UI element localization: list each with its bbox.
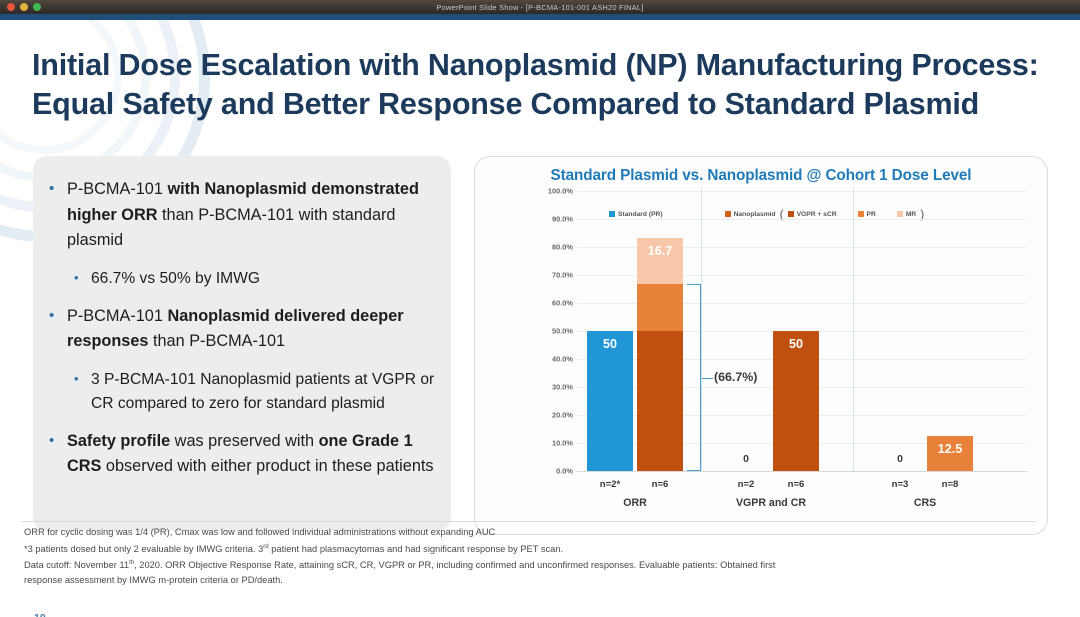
chart-bar-segment[interactable] [637, 284, 683, 331]
slide-title: Initial Dose Escalation with Nanoplasmid… [32, 46, 1052, 124]
x-axis-n-label: n=2 [723, 479, 769, 490]
bullet-item: P-BCMA-101 Nanoplasmid delivered deeper … [43, 304, 443, 355]
y-axis-labels: 100.0%90.0%80.0%70.0%60.0%50.0%40.0%30.0… [527, 191, 573, 536]
window-titlebar: PowerPoint Slide Show - [P-BCMA-101-001 … [0, 0, 1080, 14]
y-axis-tick-label: 100.0% [527, 187, 573, 196]
bullet-text-run: was preserved with [170, 432, 318, 450]
gridline [577, 191, 1027, 192]
chart-bar[interactable]: 50 [773, 331, 819, 471]
x-axis-group-label: ORR [573, 497, 697, 509]
slide-title-line-2: Equal Safety and Better Response Compare… [32, 85, 1052, 124]
bar-value-label: 12.5 [927, 442, 973, 456]
chart-bar[interactable]: 50 [587, 331, 633, 471]
chart-bar[interactable]: 12.5 [927, 436, 973, 471]
bullet-text-run: P-BCMA-101 [67, 180, 167, 198]
chart-panel: Standard Plasmid vs. Nanoplasmid @ Cohor… [474, 156, 1048, 535]
y-axis-tick-label: 10.0% [527, 439, 573, 448]
bullet-text-run: Safety profile [67, 432, 170, 450]
bullet-text-run: 3 P-BCMA-101 Nanoplasmid patients at VGP… [91, 371, 434, 412]
bullet-item: Safety profile was preserved with one Gr… [43, 429, 443, 480]
chart-bar-segment[interactable]: 16.7 [637, 238, 683, 285]
window-title: PowerPoint Slide Show - [P-BCMA-101-001 … [0, 3, 1080, 12]
y-axis-tick-label: 60.0% [527, 299, 573, 308]
chart-bar-segment[interactable]: 12.5 [927, 436, 973, 471]
powerpoint-slideshow-window: PowerPoint Slide Show - [P-BCMA-101-001 … [0, 0, 1080, 617]
key-findings-panel: P-BCMA-101 with Nanoplasmid demonstrated… [33, 156, 451, 531]
chart-plot-wrapper: 100.0%90.0%80.0%70.0%60.0%50.0%40.0%30.0… [475, 191, 1049, 536]
bracket-tick [701, 378, 713, 380]
bullet-text-run: P-BCMA-101 [67, 307, 167, 325]
x-axis-n-label: n=3 [877, 479, 923, 490]
x-axis-n-label: n=2* [587, 479, 633, 490]
bullet-text-run: 66.7% vs 50% by IMWG [91, 270, 260, 287]
x-axis-n-label: n=6 [773, 479, 819, 490]
group-divider [701, 187, 702, 471]
slide-number: 10 [34, 612, 46, 617]
bullet-item: 3 P-BCMA-101 Nanoplasmid patients at VGP… [43, 368, 443, 416]
footnote-line-2: *3 patients dosed but only 2 evaluable b… [24, 540, 1034, 557]
bullet-list: P-BCMA-101 with Nanoplasmid demonstrated… [43, 177, 443, 493]
chart-plot-area: 50n=2*16.7n=6ORR(66.7%)0n=250n=6VGPR and… [577, 191, 1027, 471]
footnote-divider [22, 521, 1036, 522]
gridline [577, 471, 1027, 472]
y-axis-tick-label: 30.0% [527, 383, 573, 392]
x-axis-group-label: CRS [863, 497, 987, 509]
x-axis-n-label: n=6 [637, 479, 683, 490]
bar-value-label-zero: 0 [723, 453, 769, 465]
bullet-item: 66.7% vs 50% by IMWG [43, 267, 443, 291]
x-axis-n-label: n=8 [927, 479, 973, 490]
bracket-annotation [687, 284, 701, 471]
footnote-line-3: Data cutoff: November 11th, 2020. ORR Ob… [24, 556, 1034, 573]
chart-title: Standard Plasmid vs. Nanoplasmid @ Cohor… [475, 167, 1047, 185]
y-axis-tick-label: 90.0% [527, 215, 573, 224]
footnote-line-4: response assessment by IMWG m-protein cr… [24, 573, 1034, 588]
y-axis-tick-label: 50.0% [527, 327, 573, 336]
bullet-item: P-BCMA-101 with Nanoplasmid demonstrated… [43, 177, 443, 254]
bar-value-label: 50 [773, 337, 819, 351]
footnotes: ORR for cyclic dosing was 1/4 (PR), Cmax… [24, 525, 1034, 588]
bullet-text-run: observed with either product in these pa… [101, 457, 433, 475]
slide-canvas: Initial Dose Escalation with Nanoplasmid… [0, 20, 1080, 617]
chart-bar-segment[interactable] [637, 331, 683, 471]
footnote-line-1: ORR for cyclic dosing was 1/4 (PR), Cmax… [24, 525, 1034, 540]
slide-title-line-1: Initial Dose Escalation with Nanoplasmid… [32, 48, 1039, 82]
chart-bar-segment[interactable]: 50 [773, 331, 819, 471]
y-axis-tick-label: 80.0% [527, 243, 573, 252]
bar-value-label-zero: 0 [877, 453, 923, 465]
group-divider [853, 187, 854, 471]
gridline [577, 219, 1027, 220]
bar-value-label: 50 [587, 337, 633, 351]
chart-bar[interactable]: 16.7 [637, 237, 683, 471]
bar-value-label: 16.7 [637, 244, 683, 258]
x-axis-group-label: VGPR and CR [709, 497, 833, 509]
y-axis-tick-label: 70.0% [527, 271, 573, 280]
bracket-annotation-label: (66.7%) [714, 370, 757, 384]
y-axis-tick-label: 0.0% [527, 467, 573, 476]
chart-bar-segment[interactable]: 50 [587, 331, 633, 471]
y-axis-tick-label: 20.0% [527, 411, 573, 420]
bullet-text-run: than P-BCMA-101 [148, 332, 285, 350]
y-axis-tick-label: 40.0% [527, 355, 573, 364]
